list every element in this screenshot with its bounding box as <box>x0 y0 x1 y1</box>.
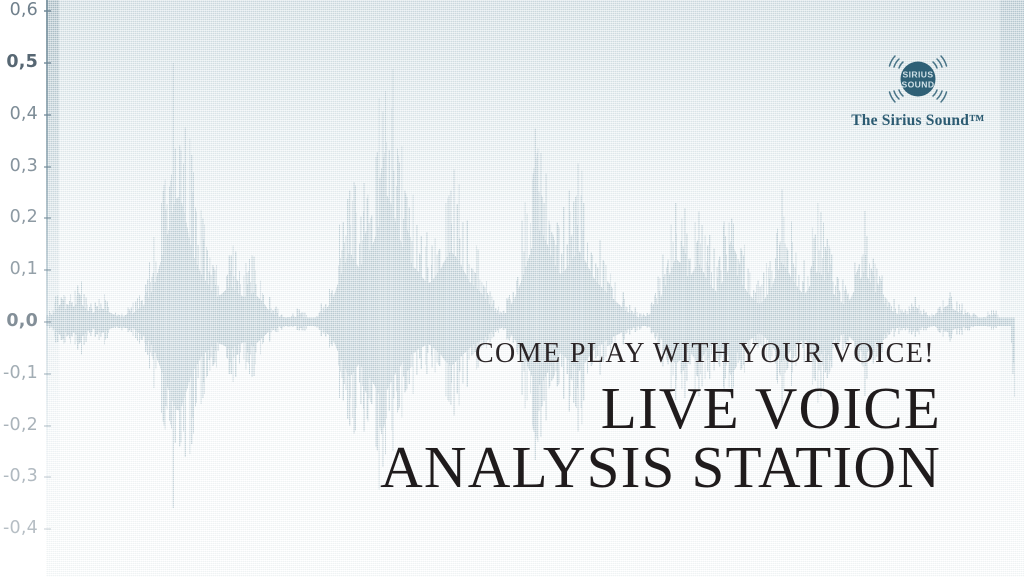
y-axis-tick-label: 0,1 <box>0 259 44 279</box>
brand-wordmark: The Sirius Sound™ <box>828 112 1008 130</box>
y-axis-tick-label: 0,5 <box>0 52 44 72</box>
tagline-text: COME PLAY WITH YOUR VOICE! <box>0 340 941 368</box>
y-axis-tick-label: 0,3 <box>0 156 44 176</box>
sirius-sound-logo-icon: SIRIUS SOUND <box>887 48 949 110</box>
y-axis-tick-label: -0,4 <box>0 518 44 538</box>
title-line-2: ANALYSIS STATION <box>0 437 941 499</box>
y-axis-tick <box>44 528 51 530</box>
y-axis-tick-label: 0,6 <box>0 0 44 20</box>
y-axis-tick <box>44 10 51 12</box>
y-axis-tick <box>44 114 51 116</box>
live-voice-analysis-station-screen: 0,60,50,40,30,20,10,0-0,1-0,2-0,3-0,4 SI… <box>0 0 1024 577</box>
y-axis-tick-label: 0,0 <box>0 311 44 331</box>
logo-text-sound: SOUND <box>901 80 934 90</box>
y-axis-tick <box>44 217 51 219</box>
y-axis-tick-label: 0,2 <box>0 207 44 227</box>
y-axis-tick-label: 0,4 <box>0 104 44 124</box>
headline-block: COME PLAY WITH YOUR VOICE! LIVE VOICE AN… <box>0 340 941 499</box>
y-axis-tick <box>44 321 51 323</box>
logo-text-sirius: SIRIUS <box>902 70 933 80</box>
title-line-1: LIVE VOICE <box>0 377 941 441</box>
y-axis-tick <box>44 269 51 271</box>
brand-logo-block[interactable]: SIRIUS SOUND The Sirius Sound™ <box>828 48 1008 130</box>
y-axis-tick <box>44 62 51 64</box>
y-axis-tick <box>44 166 51 168</box>
